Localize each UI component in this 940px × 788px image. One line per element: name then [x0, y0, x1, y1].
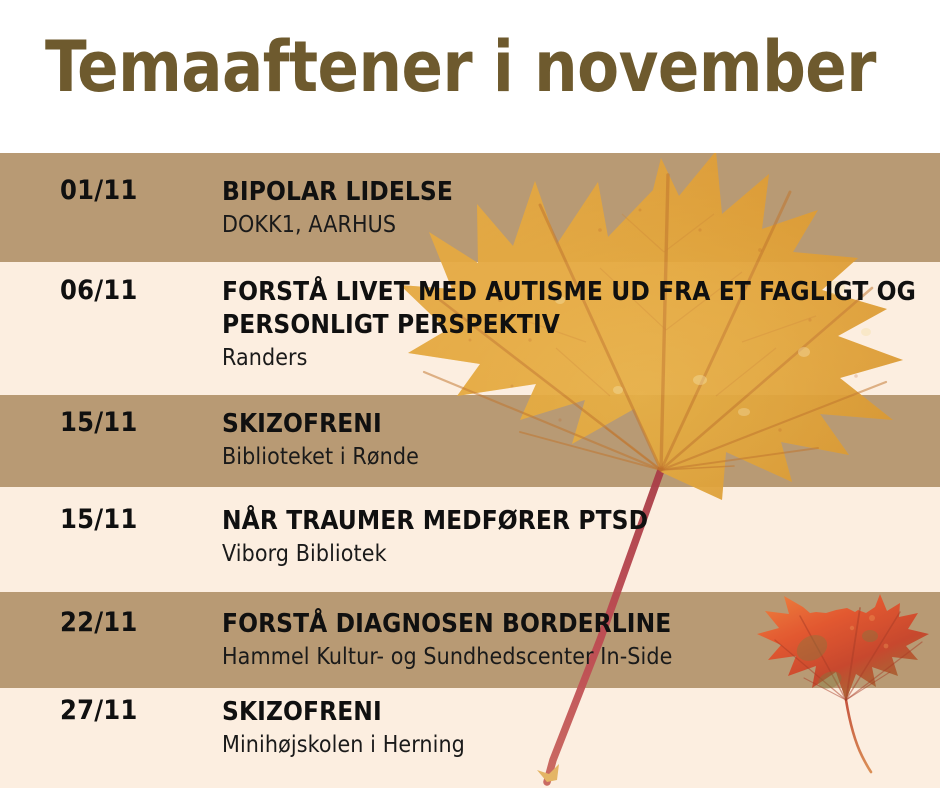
event-body: NÅR TRAUMER MEDFØRER PTSD Viborg Bibliot…	[222, 505, 922, 569]
event-title: FORSTÅ DIAGNOSEN BORDERLINE	[222, 608, 922, 641]
event-venue: Hammel Kultur- og Sundhedscenter In-Side	[222, 643, 922, 672]
event-title: NÅR TRAUMER MEDFØRER PTSD	[222, 505, 922, 538]
event-date: 22/11	[60, 608, 210, 638]
event-date: 15/11	[60, 408, 210, 438]
event-title: FORSTÅ LIVET MED AUTISME UD FRA ET FAGLI…	[222, 276, 922, 342]
event-venue: DOKK1, AARHUS	[222, 211, 922, 240]
event-title: BIPOLAR LIDELSE	[222, 176, 922, 209]
event-title: SKIZOFRENI	[222, 408, 922, 441]
event-date: 06/11	[60, 276, 210, 306]
header-bar: Temaaftener i november	[0, 0, 940, 153]
event-title: SKIZOFRENI	[222, 696, 922, 729]
event-date: 01/11	[60, 176, 210, 206]
event-body: SKIZOFRENI Minihøjskolen i Herning	[222, 696, 922, 760]
event-body: FORSTÅ DIAGNOSEN BORDERLINE Hammel Kultu…	[222, 608, 922, 672]
event-body: SKIZOFRENI Biblioteket i Rønde	[222, 408, 922, 472]
event-body: FORSTÅ LIVET MED AUTISME UD FRA ET FAGLI…	[222, 276, 922, 373]
event-date: 15/11	[60, 505, 210, 535]
event-venue: Randers	[222, 344, 922, 373]
event-venue: Viborg Bibliotek	[222, 540, 922, 569]
event-venue: Minihøjskolen i Herning	[222, 731, 922, 760]
event-date: 27/11	[60, 696, 210, 726]
event-venue: Biblioteket i Rønde	[222, 443, 922, 472]
poster-root: Temaaftener i november 01/11 BIPOLAR LID…	[0, 0, 940, 788]
event-body: BIPOLAR LIDELSE DOKK1, AARHUS	[222, 176, 922, 240]
page-title: Temaaftener i november	[45, 28, 879, 106]
